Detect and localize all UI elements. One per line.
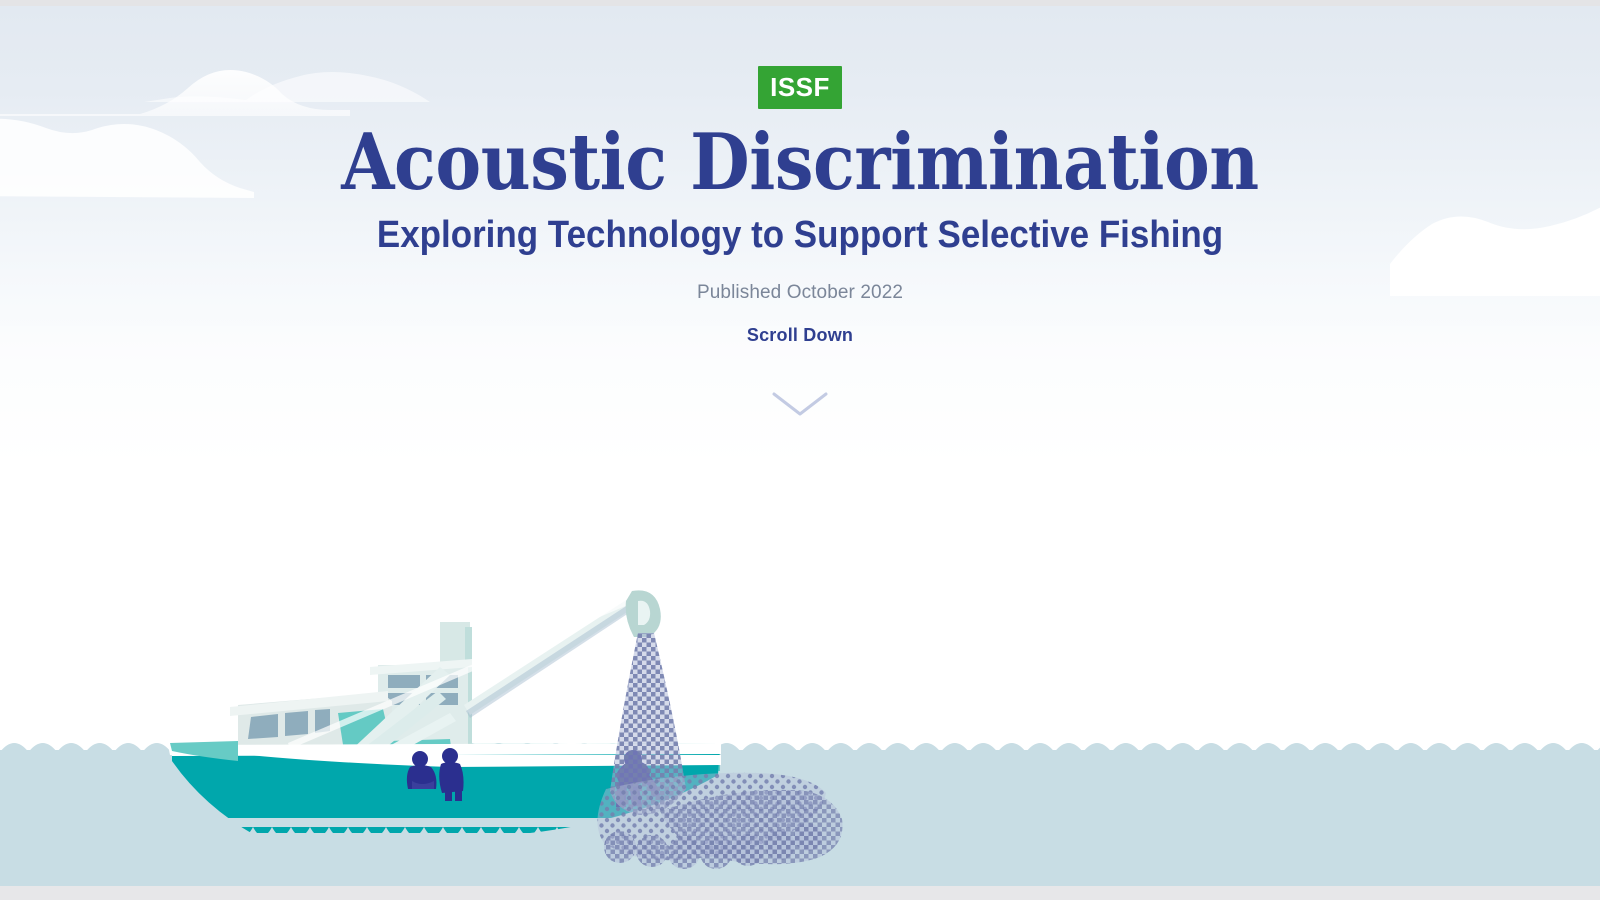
boat-illustration [120,575,900,875]
cabin-window-2 [285,711,308,736]
scroll-down-button[interactable] [770,388,830,420]
browser-chrome-bottom [0,886,1600,900]
published-date: Published October 2022 [0,282,1600,304]
tower-window-1 [388,675,420,688]
page-title: Acoustic Discrimination [96,123,1504,203]
browser-chrome-top [0,0,1600,6]
hero-header: ISSF Acoustic Discrimination Exploring T… [0,0,1600,425]
scroll-down-label[interactable]: Scroll Down [0,325,1600,346]
chevron-down-icon[interactable] [770,388,830,420]
hull-wave-overlay [160,818,740,853]
issf-logo[interactable]: ISSF [758,66,842,109]
cabin-window-1 [248,714,278,739]
landing-page: ISSF Acoustic Discrimination Exploring T… [0,0,1600,900]
page-subtitle: Exploring Technology to Support Selectiv… [64,215,1536,257]
fishing-boat [120,575,880,875]
